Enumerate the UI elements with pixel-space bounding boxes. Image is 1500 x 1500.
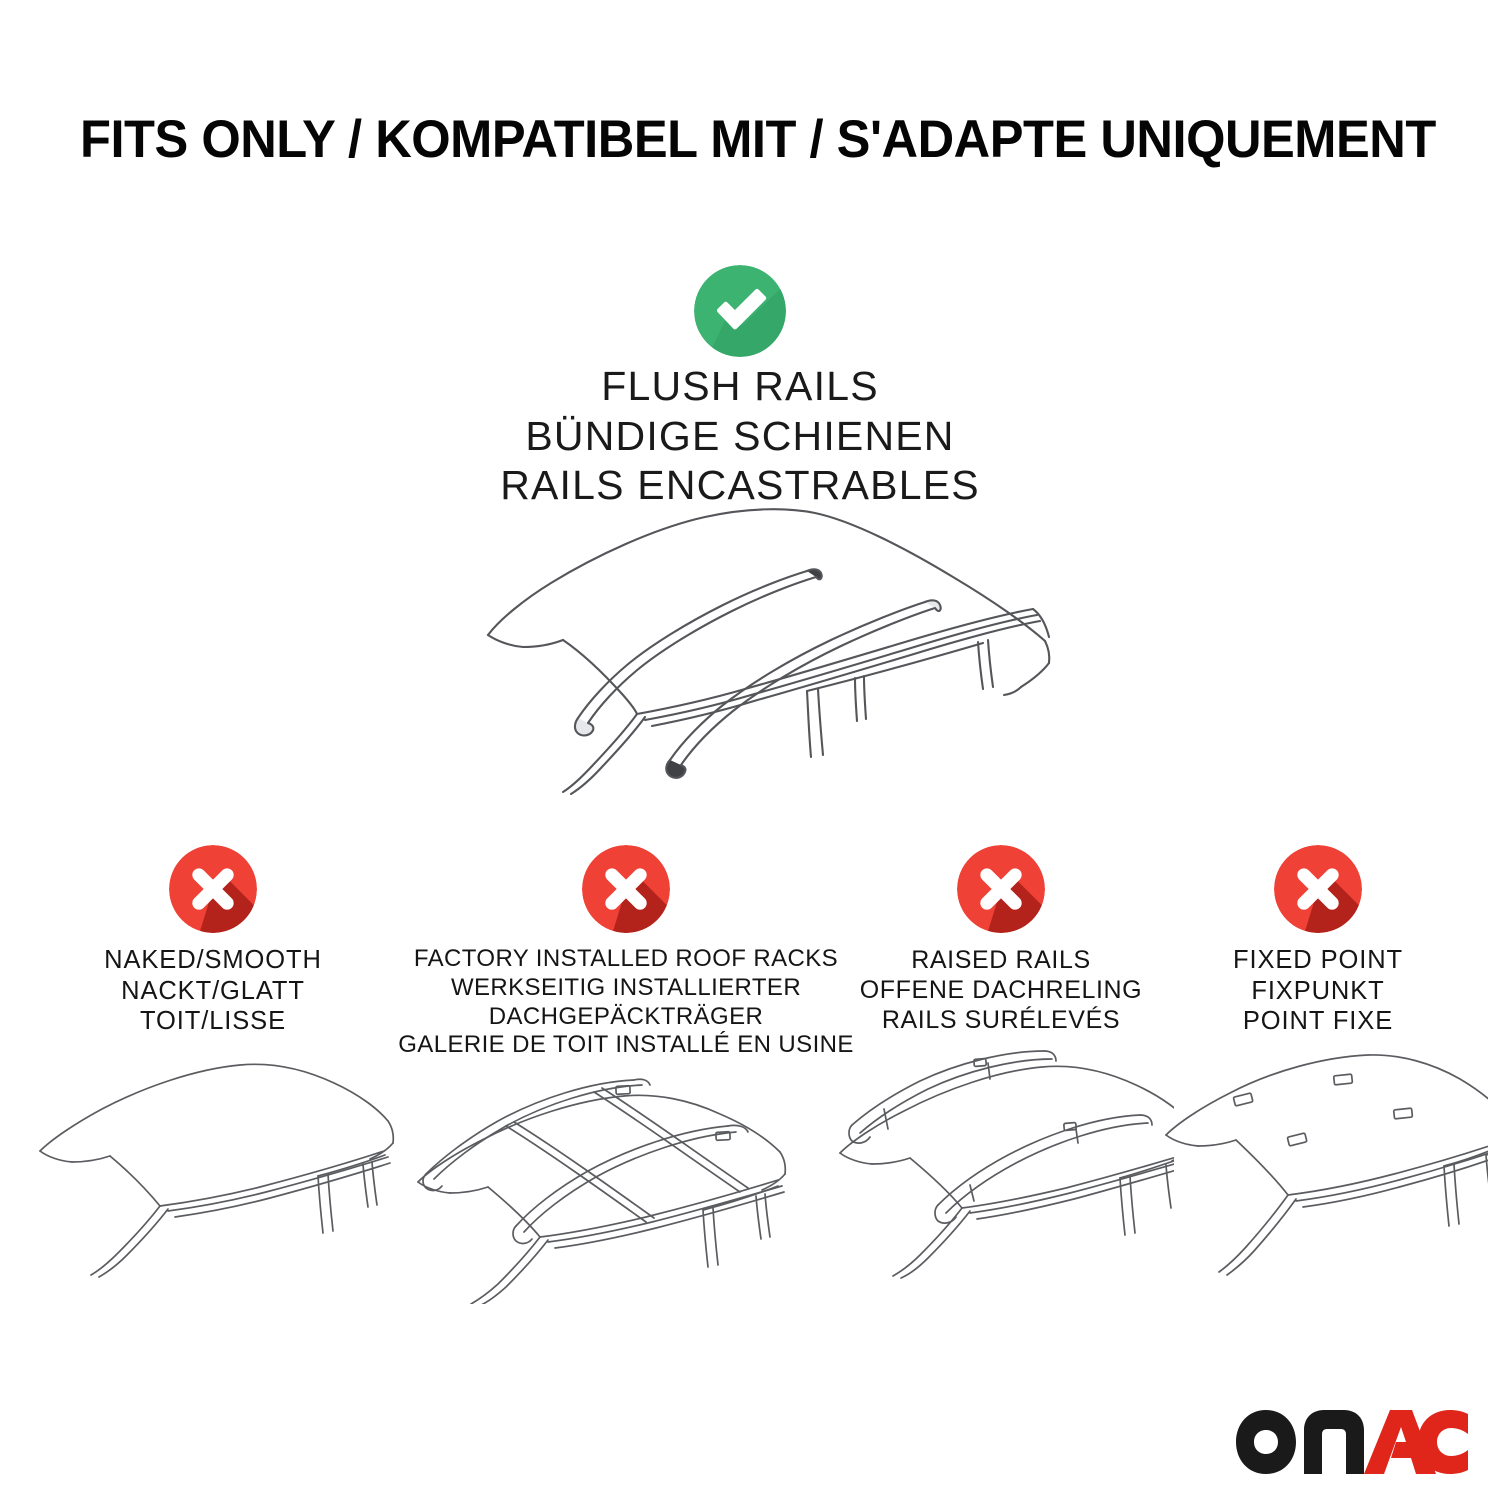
green-check-circle-icon — [694, 265, 786, 357]
caption-line-de: FIXPUNKT — [1148, 976, 1488, 1007]
caption-line-fr: RAILS SURÉLEVÉS — [828, 1005, 1174, 1035]
badge-wrap — [28, 845, 398, 937]
red-x-circle-icon — [169, 845, 257, 933]
caption-line-fr: GALERIE DE TOIT INSTALLÉ EN USINE — [398, 1031, 854, 1060]
red-x-circle-icon — [582, 845, 670, 933]
caption-line-de: NACKT/GLATT — [28, 976, 398, 1007]
car-roof-naked-smooth-drawing — [28, 1051, 398, 1281]
incompatible-item-factory-installed-roof-racks: FACTORY INSTALLED ROOF RACKS WERKSEITIG … — [398, 845, 854, 1304]
incompatible-caption: FACTORY INSTALLED ROOF RACKS WERKSEITIG … — [398, 945, 854, 1060]
red-x-circle-icon — [957, 845, 1045, 933]
red-x-circle-icon — [1274, 845, 1362, 933]
omac-logo — [1232, 1404, 1474, 1476]
page-title: FITS ONLY / KOMPATIBEL MIT / S'ADAPTE UN… — [80, 112, 1379, 168]
caption-line-en: NAKED/SMOOTH — [28, 945, 398, 976]
caption-line-en: FIXED POINT — [1148, 945, 1488, 976]
compatibility-infographic: FITS ONLY / KOMPATIBEL MIT / S'ADAPTE UN… — [0, 0, 1500, 1500]
incompatible-caption: RAISED RAILS OFFENE DACHRELING RAILS SUR… — [828, 945, 1174, 1035]
car-roof-raised-rails-drawing — [828, 1049, 1174, 1279]
compatible-line-en: FLUSH RAILS — [250, 362, 1230, 412]
incompatible-item-raised-rails: RAISED RAILS OFFENE DACHRELING RAILS SUR… — [828, 845, 1174, 1279]
compatible-line-de: BÜNDIGE SCHIENEN — [250, 412, 1230, 462]
car-roof-flush-rails-drawing — [455, 495, 1065, 795]
compatible-heading: FLUSH RAILS BÜNDIGE SCHIENEN RAILS ENCAS… — [250, 362, 1230, 511]
incompatible-caption: FIXED POINT FIXPUNKT POINT FIXE — [1148, 945, 1488, 1037]
caption-line-en: FACTORY INSTALLED ROOF RACKS — [398, 945, 854, 974]
badge-wrap — [398, 845, 854, 937]
car-roof-fixed-point-drawing — [1148, 1051, 1488, 1281]
caption-line-fr: POINT FIXE — [1148, 1006, 1488, 1037]
caption-line-en: RAISED RAILS — [828, 945, 1174, 975]
badge-wrap — [1148, 845, 1488, 937]
incompatible-item-fixed-point: FIXED POINT FIXPUNKT POINT FIXE — [1148, 845, 1488, 1281]
car-roof-factory-racks-drawing — [398, 1074, 854, 1304]
caption-line-de: OFFENE DACHRELING — [828, 975, 1174, 1005]
incompatible-caption: NAKED/SMOOTH NACKT/GLATT TOIT/LISSE — [28, 945, 398, 1037]
caption-line-fr: TOIT/LISSE — [28, 1006, 398, 1037]
incompatible-item-naked-smooth: NAKED/SMOOTH NACKT/GLATT TOIT/LISSE — [28, 845, 398, 1281]
badge-wrap — [828, 845, 1174, 937]
caption-line-de-2: DACHGEPÄCKTRÄGER — [398, 1003, 854, 1032]
caption-line-de-1: WERKSEITIG INSTALLIERTER — [398, 974, 854, 1003]
